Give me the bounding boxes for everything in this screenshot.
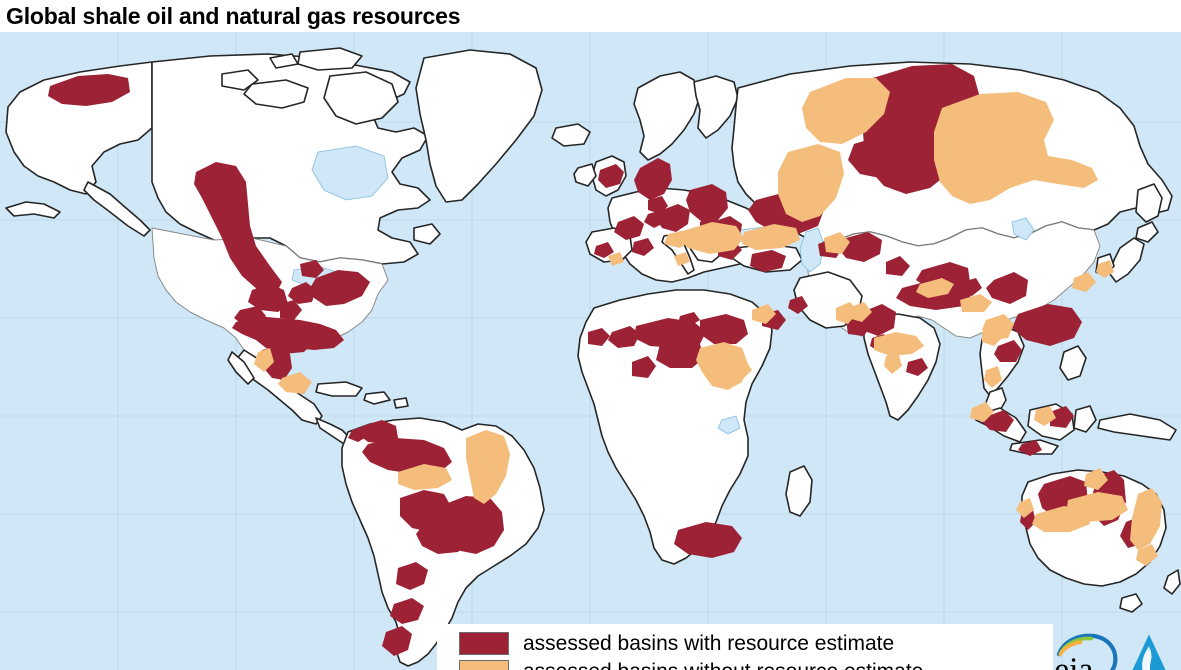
legend-label-with-estimate: assessed basins with resource estimate bbox=[523, 632, 894, 655]
eia-logo: eia bbox=[1053, 631, 1119, 670]
legend-row-without-estimate: assessed basins without resource estimat… bbox=[459, 657, 1053, 670]
land-iceland bbox=[552, 124, 590, 146]
map-canvas: .land { fill:#ffffff; stroke:#8a8a8a; st… bbox=[0, 32, 1181, 670]
legend-swatch-without-estimate bbox=[459, 660, 509, 670]
figure-global-shale-resources: Global shale oil and natural gas resourc… bbox=[0, 0, 1181, 670]
legend-row-with-estimate: assessed basins with resource estimate bbox=[459, 629, 1053, 657]
land-antilles bbox=[394, 398, 408, 408]
title-bar: Global shale oil and natural gas resourc… bbox=[0, 0, 1181, 32]
map-legend: assessed basins with resource estimate a… bbox=[437, 624, 1053, 670]
legend-swatch-with-estimate bbox=[459, 632, 509, 655]
svg-text:eia: eia bbox=[1054, 652, 1093, 670]
page-title: Global shale oil and natural gas resourc… bbox=[0, 1, 460, 31]
doe-flame-logo bbox=[1125, 633, 1173, 670]
land-kamchatka bbox=[1136, 184, 1162, 222]
legend-label-without-estimate: assessed basins without resource estimat… bbox=[523, 660, 923, 670]
logo-group: eia bbox=[1053, 628, 1177, 670]
world-map-svg: .land { fill:#ffffff; stroke:#8a8a8a; st… bbox=[0, 32, 1181, 670]
